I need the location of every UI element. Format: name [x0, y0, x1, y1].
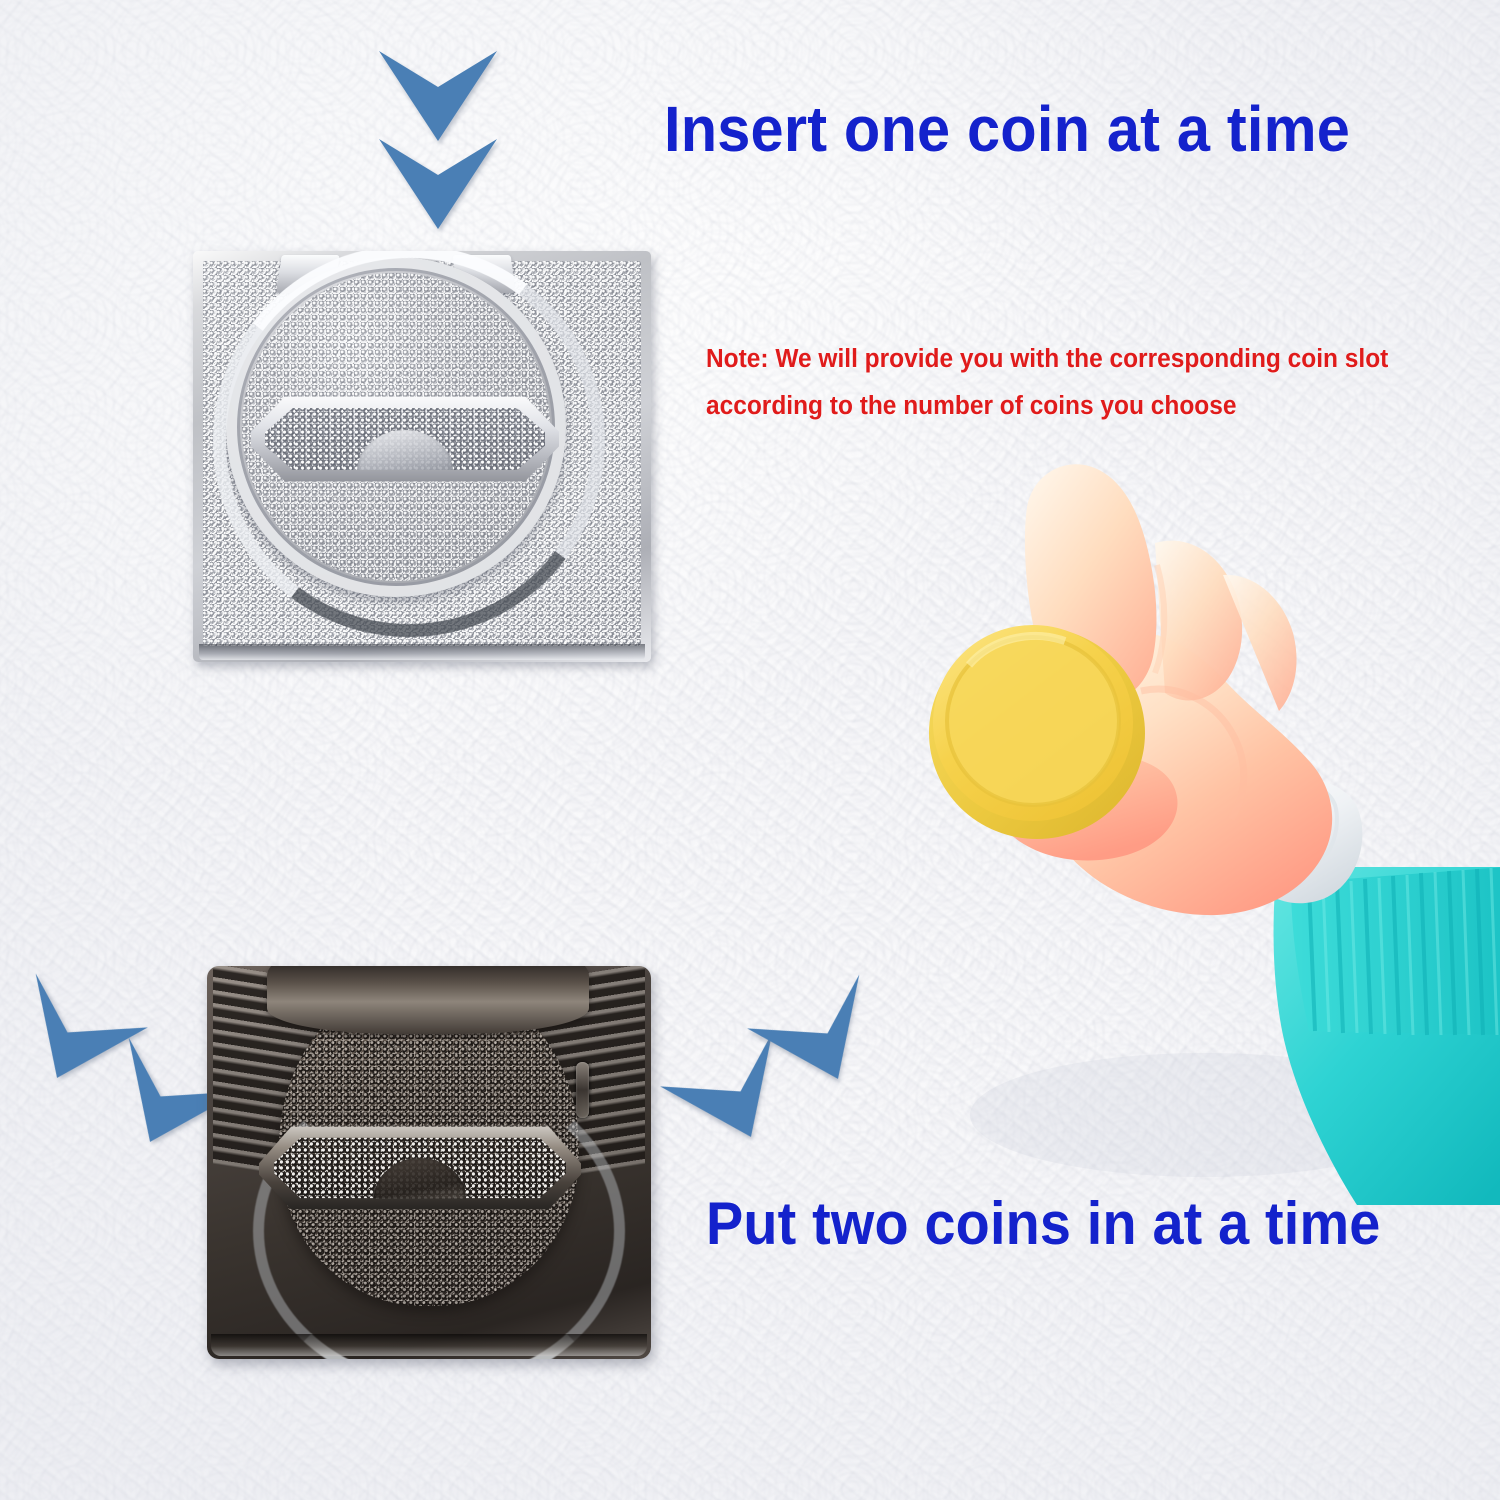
side-coin-aperture — [576, 1062, 589, 1118]
coin-aperture-inner — [265, 406, 545, 472]
plate-bottom-edge — [211, 1334, 647, 1356]
coin-aperture-emblem — [357, 430, 453, 488]
arrow-down-icon — [377, 49, 499, 143]
note-line-1: Note: We will provide you with the corre… — [706, 336, 1464, 383]
dial-top-cap — [267, 966, 589, 1034]
arrow-down-left-icon — [752, 963, 892, 1073]
note-text: Note: We will provide you with the corre… — [706, 336, 1464, 430]
product-photo-single-coin-slot — [193, 251, 651, 662]
arrow-down-icon — [377, 137, 499, 231]
coin-aperture-inner — [274, 1136, 566, 1200]
coin-aperture — [259, 1122, 581, 1214]
note-line-2: according to the number of coins you cho… — [706, 383, 1464, 430]
product-photo-double-coin-slot — [207, 966, 651, 1359]
page-title-bottom: Put two coins in at a time — [706, 1189, 1381, 1258]
coin-aperture-emblem — [374, 1158, 466, 1214]
hand-holding-coin-illustration — [905, 415, 1500, 1205]
coin-aperture — [251, 393, 559, 485]
infographic-canvas: Insert one coin at a time Note: We will … — [0, 0, 1500, 1500]
plate-bottom-edge — [199, 644, 645, 660]
page-title-top: Insert one coin at a time — [664, 92, 1350, 166]
